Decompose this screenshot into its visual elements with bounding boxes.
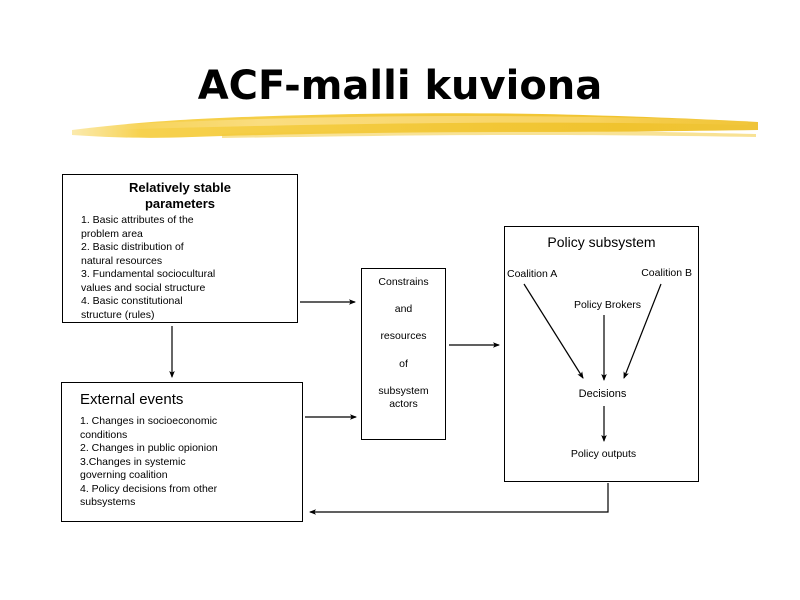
box-constrains-and-resources: Constrains and resources of subsystem ac… [361,268,446,440]
list-item: 4. Policy decisions from other [80,483,296,497]
stable-parameters-heading-line2: parameters [63,196,297,212]
list-item: structure (rules) [81,309,291,323]
label-coalition-a: Coalition A [507,268,557,281]
list-item: 1. Basic attributes of the [81,214,291,228]
label-coalition-b: Coalition B [641,267,692,280]
label-policy-outputs: Policy outputs [505,448,698,461]
list-item: 3.Changes in systemic [80,456,296,470]
constrains-line-1: Constrains [362,276,445,289]
list-item: 2. Changes in public opionion [80,442,296,456]
list-item: values and social structure [81,282,291,296]
list-item: conditions [80,429,296,443]
external-events-list: 1. Changes in socioeconomic conditions 2… [62,409,302,510]
box-external-events: External events 1. Changes in socioecono… [61,382,303,522]
brush-stroke-decoration [72,108,758,144]
list-item: 1. Changes in socioeconomic [80,415,296,429]
constrains-line-3: resources [362,330,445,343]
list-item: 3. Fundamental sociocultural [81,268,291,282]
constrains-line-2: and [362,303,445,316]
external-events-heading: External events [62,383,302,409]
policy-subsystem-heading: Policy subsystem [505,233,698,251]
list-item: 2. Basic distribution of [81,241,291,255]
box-policy-subsystem: Policy subsystem Coalition A Coalition B… [504,226,699,482]
list-item: problem area [81,228,291,242]
slide-canvas: ACF-malli kuviona Relatively stable [0,0,800,600]
stable-parameters-heading: Relatively stable parameters [63,175,297,212]
constrains-line-4: of [362,358,445,371]
list-item: governing coalition [80,469,296,483]
page-title: ACF-malli kuviona [0,62,800,110]
stable-parameters-heading-line1: Relatively stable [63,180,297,196]
arrow-subsystem-feedback-to-external [310,483,608,512]
stable-parameters-list: 1. Basic attributes of the problem area … [63,212,297,322]
label-policy-brokers: Policy Brokers [505,299,698,312]
list-item: natural resources [81,255,291,269]
box-relatively-stable-parameters: Relatively stable parameters 1. Basic at… [62,174,298,323]
label-decisions: Decisions [505,387,698,401]
list-item: 4. Basic constitutional [81,295,291,309]
constrains-line-5: subsystem [362,385,445,398]
constrains-line-6: actors [362,398,445,411]
list-item: subsystems [80,496,296,510]
